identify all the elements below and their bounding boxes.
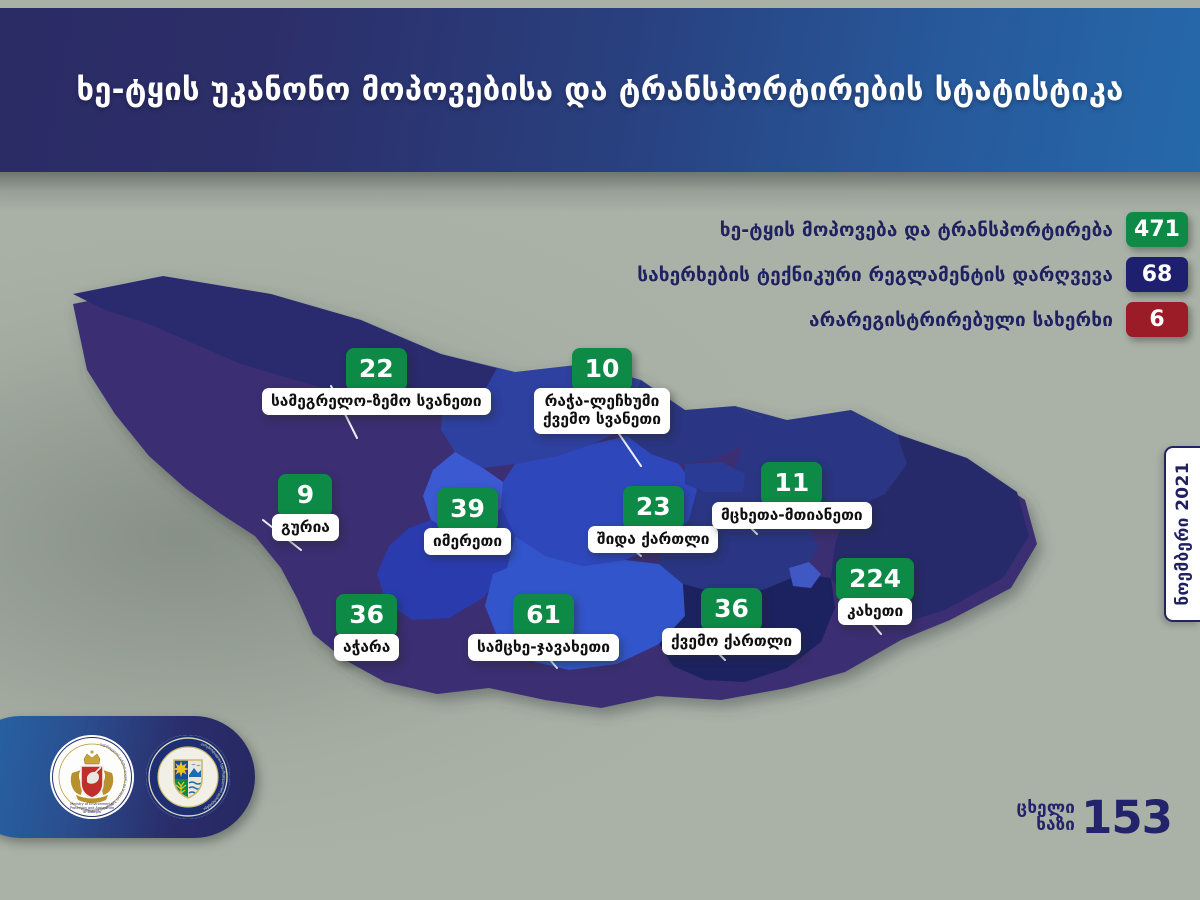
marker-label: გურია — [272, 514, 339, 541]
map-marker-racha-lechkhumi[interactable]: 10 რაჭა-ლეჩხუმი ქვემო სვანეთი — [534, 348, 670, 434]
map-marker-guria[interactable]: 9 გურია — [272, 474, 339, 541]
marker-label: სამეგრელო-ზემო სვანეთი — [262, 388, 491, 415]
map-marker-imereti[interactable]: 39 იმერეთი — [424, 488, 511, 555]
map-svg — [45, 268, 1055, 738]
map-marker-samegrelo-zemo-svaneti[interactable]: 22 სამეგრელო-ზემო სვანეთი — [262, 348, 491, 415]
ministry-emblem-icon: საქართველოს გარემოს დაცვისა და სოფლის მე… — [50, 735, 134, 819]
marker-label: სამცხე-ჯავახეთი — [468, 634, 619, 661]
marker-label: შიდა ქართლი — [588, 526, 718, 553]
marker-value: 36 — [336, 594, 397, 637]
hotline-words: ცხელი ხაზი — [1017, 800, 1076, 835]
logo-bar: საქართველოს გარემოს დაცვისა და სოფლის მე… — [0, 716, 255, 838]
date-tab-label: ნოემბერი 2021 — [1173, 462, 1193, 606]
map-marker-kakheti[interactable]: 224 კახეთი — [836, 558, 914, 625]
legend-value-badge: 6 — [1126, 302, 1188, 337]
page-title: ხე-ტყის უკანონო მოპოვებისა და ტრანსპორტი… — [0, 8, 1200, 172]
map-marker-mtskheta-mtianeti[interactable]: 11 მცხეთა-მთიანეთი — [712, 462, 872, 529]
hotline-line2: ხაზი — [1017, 817, 1076, 834]
hotline-number: 153 — [1081, 797, 1172, 838]
top-edge-strip — [0, 0, 1200, 8]
legend-value-badge: 471 — [1126, 212, 1188, 247]
georgia-map — [45, 268, 1055, 738]
marker-label: კახეთი — [838, 598, 912, 625]
marker-value: 36 — [701, 588, 762, 631]
legend-row-harvest-transport: ხე-ტყის მოპოვება და ტრანსპორტირება 471 — [148, 212, 1188, 247]
marker-value: 224 — [836, 558, 914, 601]
marker-label: რაჭა-ლეჩხუმი ქვემო სვანეთი — [534, 388, 670, 434]
svg-text:of Georgia: of Georgia — [83, 810, 101, 814]
hotline: ცხელი ხაზი 153 — [1017, 797, 1172, 838]
map-marker-shida-kartli[interactable]: 23 შიდა ქართლი — [588, 486, 718, 553]
date-tab: ნოემბერი 2021 — [1164, 446, 1200, 622]
marker-value: 23 — [623, 486, 684, 529]
marker-value: 61 — [513, 594, 574, 637]
marker-label: იმერეთი — [424, 528, 511, 555]
marker-value: 10 — [572, 348, 633, 391]
marker-label: მცხეთა-მთიანეთი — [712, 502, 872, 529]
legend-label: ხე-ტყის მოპოვება და ტრანსპორტირება — [720, 219, 1113, 241]
header-dropshadow — [0, 172, 1200, 212]
legend-value-badge: 68 — [1126, 257, 1188, 292]
infographic-root: ხე-ტყის უკანონო მოპოვებისა და ტრანსპორტი… — [0, 0, 1200, 900]
marker-value: 22 — [346, 348, 407, 391]
marker-label: აჭარა — [334, 634, 399, 661]
map-marker-adjara[interactable]: 36 აჭარა — [334, 594, 399, 661]
marker-value: 39 — [437, 488, 498, 531]
map-marker-samtskhe-javakheti[interactable]: 61 სამცხე-ჯავახეთი — [468, 594, 619, 661]
marker-value: 11 — [761, 462, 822, 505]
supervision-emblem-icon: გარემოსდაცვითი ზედამხედველობის დეპარტამე… — [146, 735, 230, 819]
map-marker-kvemo-kartli[interactable]: 36 ქვემო ქართლი — [662, 588, 801, 655]
marker-value: 9 — [278, 474, 332, 517]
marker-label: ქვემო ქართლი — [662, 628, 801, 655]
